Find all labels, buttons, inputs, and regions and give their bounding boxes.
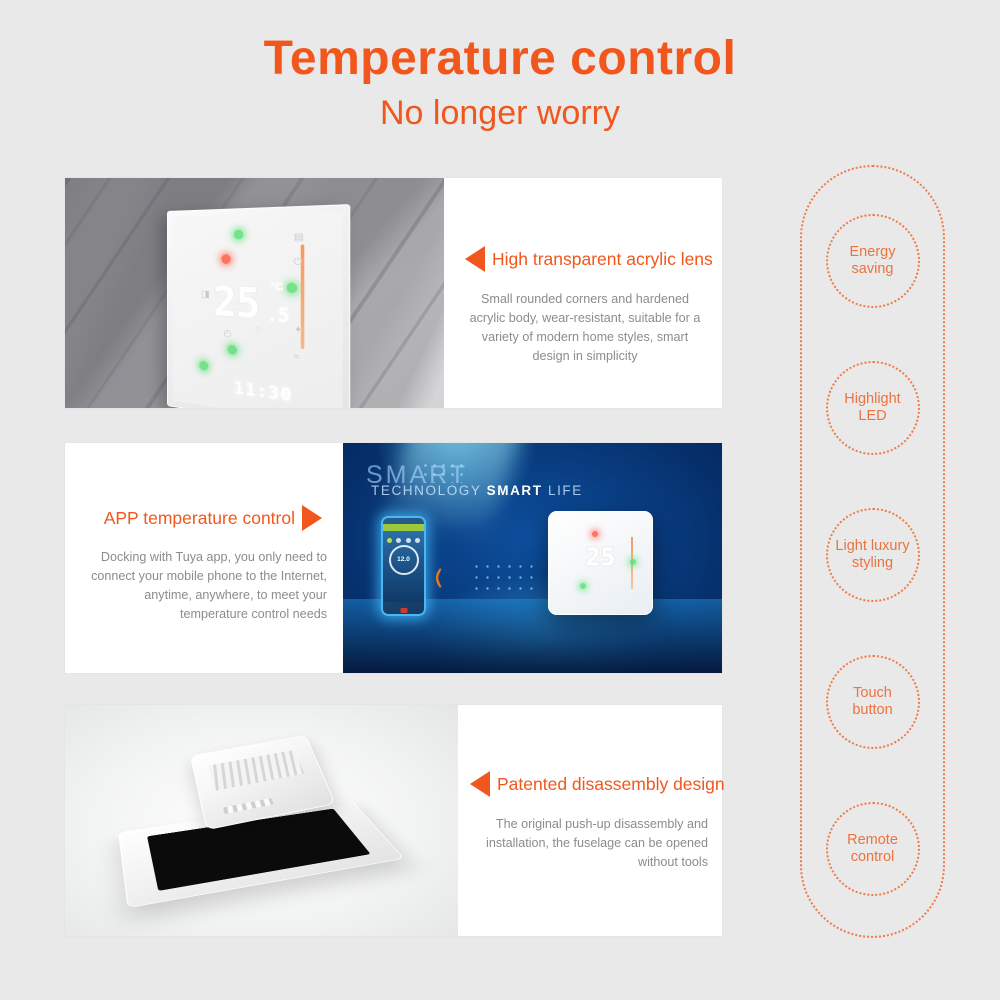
feature-title: High transparent acrylic lens — [492, 249, 713, 270]
data-transfer-dots — [471, 561, 537, 597]
badge-label: Touchbutton — [852, 685, 892, 719]
feature-text-pane: High transparent acrylic lens Small roun… — [444, 178, 722, 408]
led-indicator-green — [580, 583, 586, 589]
feature-text-pane: APP temperature control Docking with Tuy… — [65, 443, 343, 673]
smartphone-mockup: 12.0 — [381, 516, 426, 616]
badge-line2: saving — [852, 261, 894, 277]
blue-tech-background: SMART TECHNOLOGY SMART LIFE 12.0 25 — [343, 443, 722, 673]
white-studio-background — [65, 705, 458, 936]
phone-home-button — [400, 608, 407, 613]
badge-label: HighlightLED — [844, 391, 900, 425]
badge-line1: Touch — [853, 685, 892, 701]
led-indicator-red — [592, 531, 598, 537]
phone-toolbar-icons — [387, 538, 420, 543]
led-indicator-green — [630, 559, 636, 565]
scene-subheadline-plain: TECHNOLOGY — [371, 483, 487, 498]
module-fins — [208, 750, 304, 791]
badge-highlight-led: HighlightLED — [826, 361, 920, 455]
feature-card-app-control: APP temperature control Docking with Tuy… — [65, 443, 722, 673]
arrow-left-icon — [465, 246, 485, 272]
badge-energy-saving: Energysaving — [826, 214, 920, 308]
thermostat-device: ▤ ⏻ ✦ ≈ ◨ ◴ ◌ 25 .5 °C 11:30 — [167, 204, 350, 408]
badge-remote-control: Remotecontrol — [826, 802, 920, 896]
feature-badge-strip: Energysaving HighlightLED Light luxuryst… — [800, 165, 945, 938]
thermostat-temperature: 25 — [585, 542, 615, 571]
feature-title: Patented disassembly design — [497, 774, 725, 795]
faceplate-hole — [317, 838, 338, 849]
phone-temperature-dial: 12.0 — [389, 545, 419, 575]
feature-text-pane: Patented disassembly design The original… — [458, 705, 722, 936]
led-indicator-green — [234, 230, 244, 240]
page-subtitle: No longer worry — [0, 84, 1000, 132]
arrow-left-icon — [470, 771, 490, 797]
thermostat-device: 25 — [548, 511, 653, 615]
thermostat-temperature-decimal: .5 — [266, 304, 289, 328]
badge-label: Energysaving — [850, 244, 896, 278]
badge-line1: Energy — [850, 244, 896, 260]
badge-line1: Highlight — [844, 391, 900, 407]
scene-subheadline-tail: LIFE — [543, 483, 583, 498]
badge-line1: Light luxury — [835, 538, 909, 554]
badge-label: Light luxurystyling — [835, 538, 909, 572]
feature-heading-row: Patented disassembly design — [458, 771, 722, 797]
product-photo-marble-wall: ▤ ⏻ ✦ ≈ ◨ ◴ ◌ 25 .5 °C 11:30 — [65, 178, 444, 408]
led-indicator-green — [228, 345, 237, 355]
feature-description: Docking with Tuya app, you only need to … — [83, 548, 327, 625]
timer-icon: ◴ — [223, 327, 231, 339]
badge-light-luxury-styling: Light luxurystyling — [826, 508, 920, 602]
led-indicator-red — [221, 254, 230, 264]
led-indicator-green — [199, 361, 208, 371]
feature-heading-row: High transparent acrylic lens — [444, 246, 722, 272]
page-title: Temperature control — [0, 0, 1000, 84]
feature-heading-row: APP temperature control — [65, 505, 343, 531]
mode-icon: ◨ — [201, 288, 209, 300]
thermostat-temperature: 25 — [213, 278, 259, 327]
badge-line1: Remote — [847, 832, 898, 848]
calendar-icon: ▤ — [294, 231, 304, 244]
power-icon: ⏻ — [294, 256, 302, 269]
module-terminal-slots — [223, 798, 274, 814]
badge-line2: styling — [852, 555, 893, 571]
badge-line2: control — [851, 849, 895, 865]
product-photo-disassembly — [65, 705, 458, 936]
feature-card-acrylic-lens: ▤ ⏻ ✦ ≈ ◨ ◴ ◌ 25 .5 °C 11:30 High transp… — [65, 178, 722, 408]
badge-line2: LED — [858, 408, 886, 424]
phone-screen: 12.0 — [383, 524, 424, 602]
feature-card-disassembly: Patented disassembly design The original… — [65, 705, 722, 936]
feature-description: The original push-up disassembly and ins… — [484, 815, 708, 872]
led-indicator-green — [287, 283, 298, 294]
feature-description: Small rounded corners and hardened acryl… — [462, 290, 708, 367]
thermostat-display: ▤ ⏻ ✦ ≈ ◨ ◴ ◌ 25 .5 °C 11:30 — [173, 211, 343, 408]
badge-line2: button — [852, 702, 892, 718]
scene-subheadline-bold: SMART — [487, 483, 543, 498]
product-photo-smart-app-scene: SMART TECHNOLOGY SMART LIFE 12.0 25 — [343, 443, 722, 673]
scene-subheadline: TECHNOLOGY SMART LIFE — [371, 483, 583, 498]
thermostat-unit: °C — [271, 281, 284, 294]
badge-label: Remotecontrol — [847, 832, 898, 866]
feature-title: APP temperature control — [104, 508, 295, 529]
badge-touch-button: Touchbutton — [826, 655, 920, 749]
thermostat-clock: 11:30 — [234, 377, 293, 406]
wireless-signal-icon — [436, 563, 458, 589]
arrow-right-icon — [302, 505, 322, 531]
fan-icon: ✦ — [294, 324, 303, 337]
page-header: Temperature control No longer worry — [0, 0, 1000, 132]
wave-icon: ≈ — [294, 351, 300, 363]
